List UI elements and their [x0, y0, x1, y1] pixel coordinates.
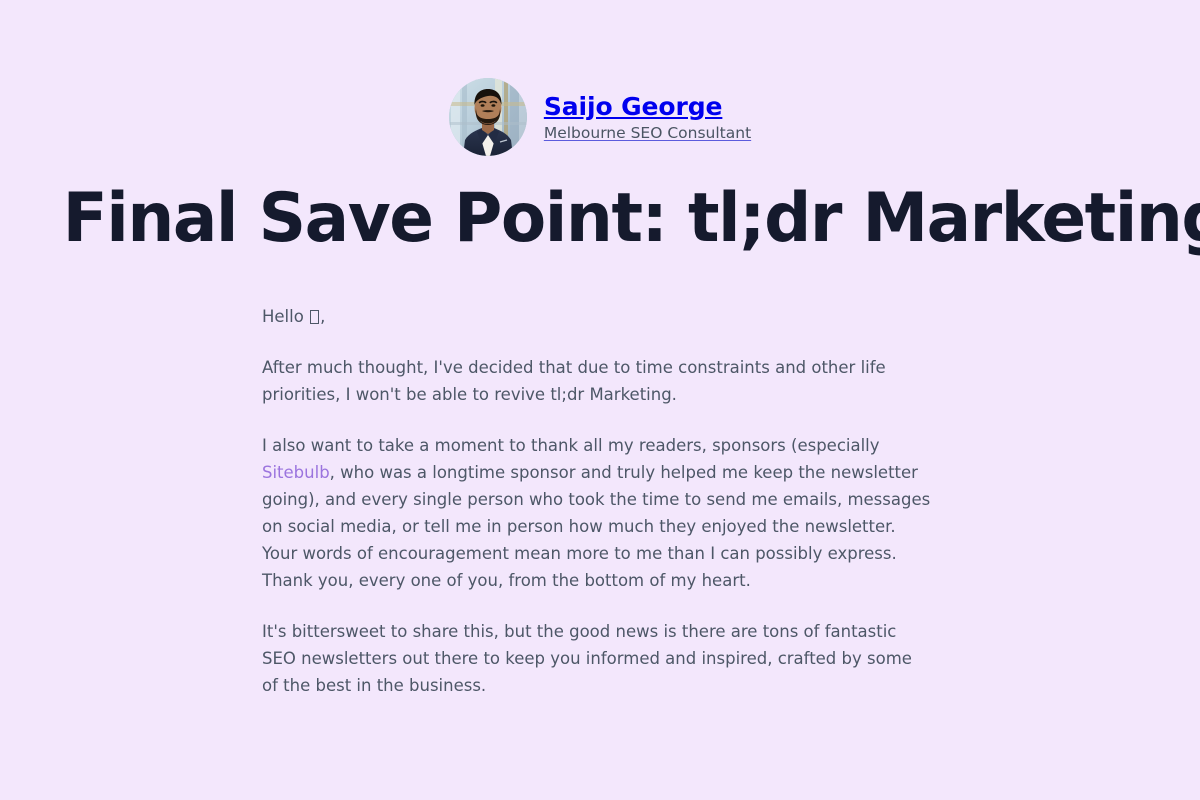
paragraph-closing: It's bittersweet to share this, but the … — [262, 618, 932, 699]
missing-glyph-icon — [310, 310, 319, 324]
post-body: Hello , After much thought, I've decided… — [262, 303, 932, 699]
author-header: Saijo George Melbourne SEO Consultant — [0, 0, 1200, 156]
author-name-link[interactable]: Saijo George — [544, 92, 723, 122]
author-text: Saijo George Melbourne SEO Consultant — [544, 92, 751, 143]
thanks-before: I also want to take a moment to thank al… — [262, 436, 880, 455]
avatar-photo-icon — [449, 78, 527, 156]
author-role-link[interactable]: Melbourne SEO Consultant — [544, 124, 751, 142]
paragraph-greeting: Hello , — [262, 303, 932, 330]
avatar — [449, 78, 527, 156]
paragraph-announcement: After much thought, I've decided that du… — [262, 354, 932, 408]
greeting-before: Hello — [262, 307, 309, 326]
greeting-after: , — [320, 307, 325, 326]
paragraph-thanks: I also want to take a moment to thank al… — [262, 432, 932, 594]
page-title: Final Save Point: tl;dr Marketing — [18, 184, 1182, 255]
sitebulb-link[interactable]: Sitebulb — [262, 463, 330, 482]
thanks-after: , who was a longtime sponsor and truly h… — [262, 463, 930, 590]
newsletter-page: Saijo George Melbourne SEO Consultant Fi… — [0, 0, 1200, 800]
